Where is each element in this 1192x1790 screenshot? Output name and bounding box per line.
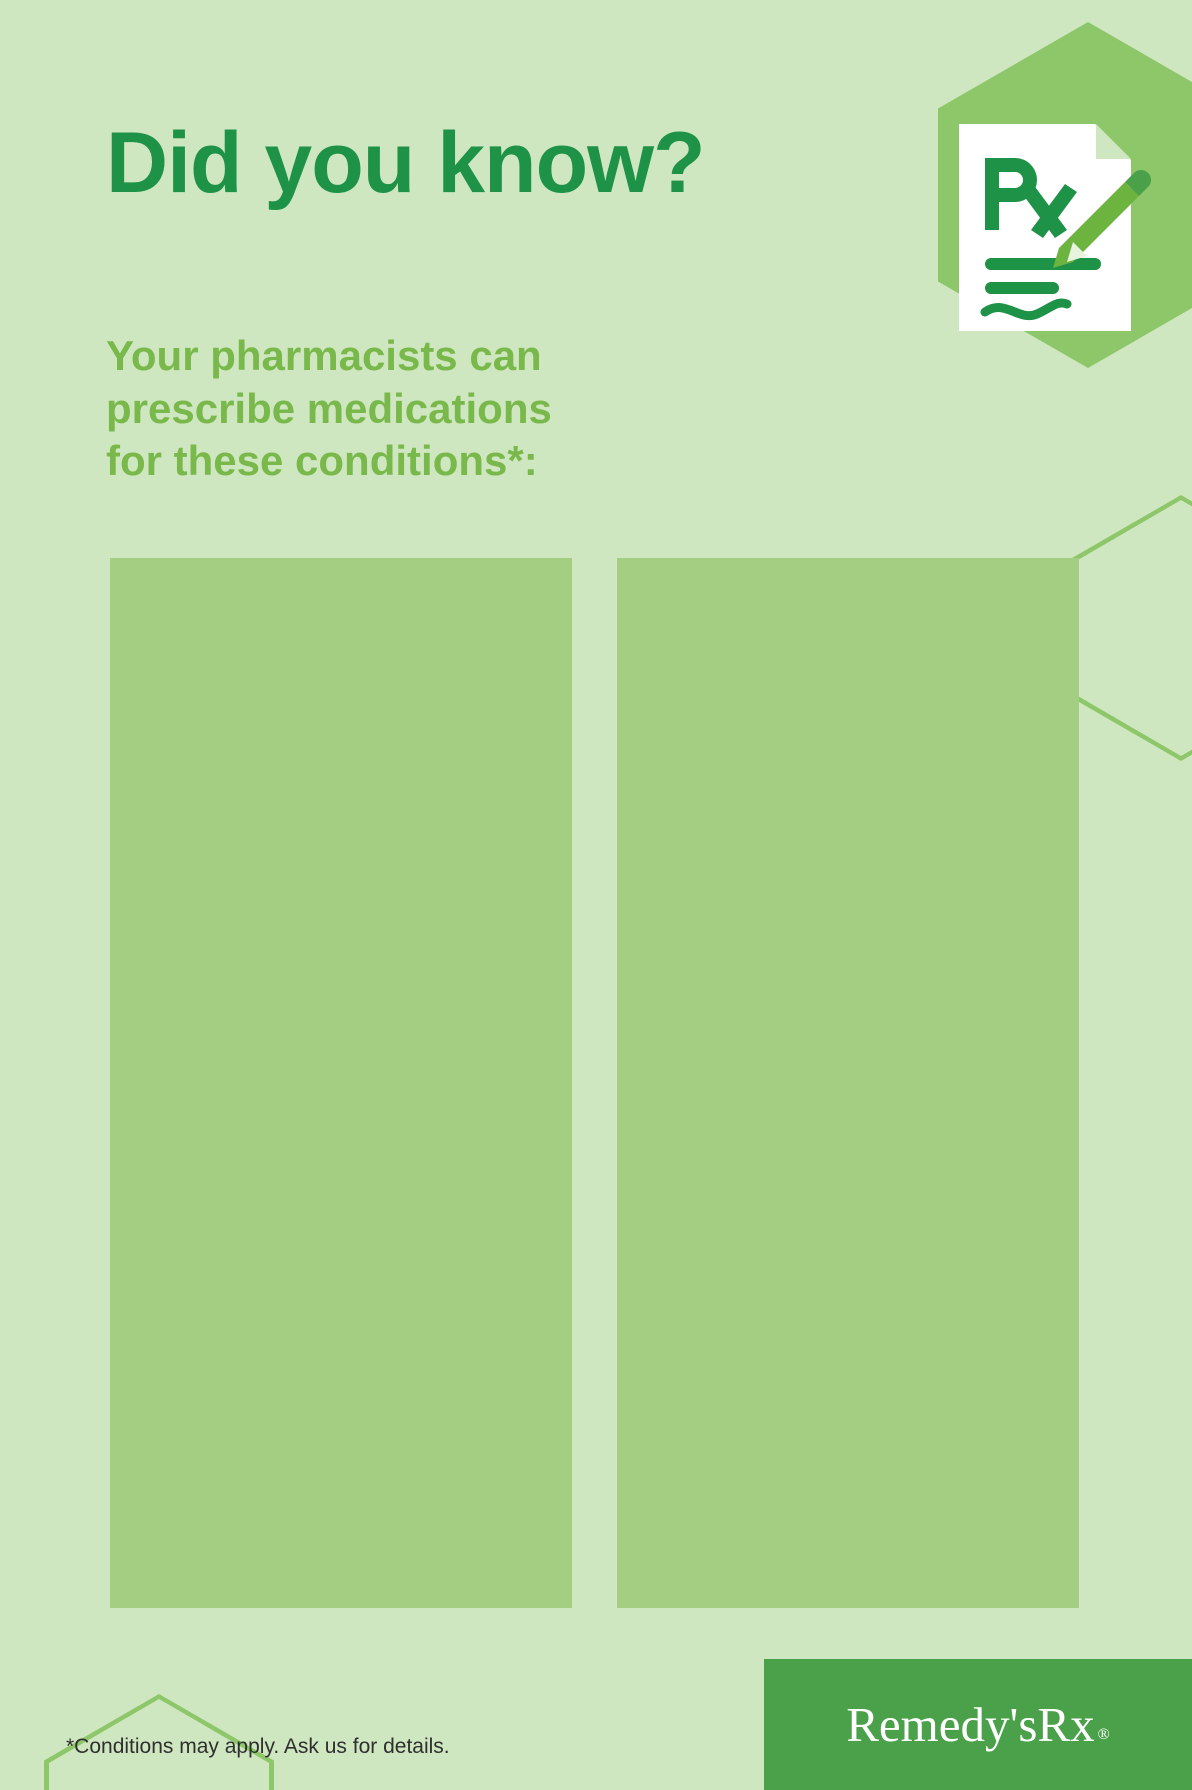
brand-logo: Remedy'sRx® [764, 1659, 1192, 1790]
conditions-column-right [617, 558, 1079, 1608]
registered-mark: ® [1098, 1726, 1110, 1743]
page-subtitle: Your pharmacists can prescribe medicatio… [106, 330, 552, 488]
poster-canvas: Did you know? Your pharmacists can presc… [0, 0, 1192, 1790]
page-title: Did you know? [106, 120, 705, 206]
rx-document-icon [955, 120, 1155, 335]
footnote-text: *Conditions may apply. Ask us for detail… [66, 1735, 450, 1759]
conditions-columns [110, 558, 1080, 1608]
hexagon-outline-icon-right [1066, 495, 1192, 761]
brand-name: Remedy'sRx [846, 1697, 1094, 1752]
brand-logo-text: Remedy'sRx® [846, 1696, 1110, 1753]
conditions-column-left [110, 558, 572, 1608]
